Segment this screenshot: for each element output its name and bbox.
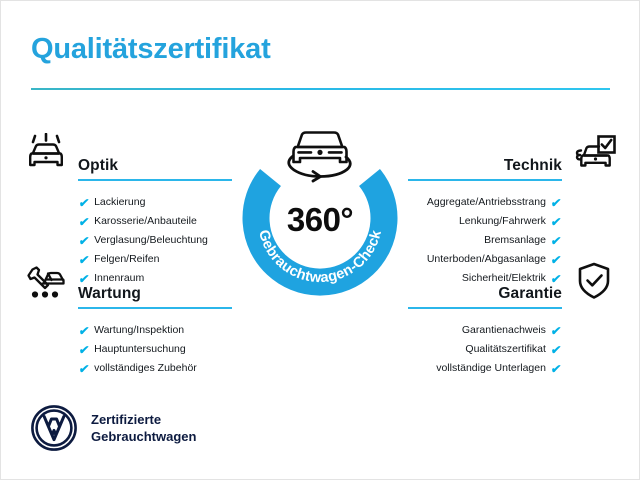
car-checkbox-icon — [570, 131, 618, 175]
section-wartung: Wartung ✔Wartung/Inspektion ✔Hauptunters… — [22, 259, 232, 378]
list-item: ✔Wartung/Inspektion — [22, 321, 232, 340]
section-divider-garantie — [408, 307, 562, 309]
list-item: ✔vollständiges Zubehör — [22, 359, 232, 378]
check-icon: ✔ — [550, 344, 562, 356]
list-item-label: Verglasung/Beleuchtung — [94, 231, 208, 250]
list-item-label: Hauptuntersuchung — [94, 340, 186, 359]
check-icon: ✔ — [78, 216, 90, 228]
section-title-garantie: Garantie — [498, 285, 562, 303]
check-icon: ✔ — [550, 197, 562, 209]
volkswagen-logo — [30, 404, 78, 452]
list-item-label: Garantienachweis — [462, 321, 546, 340]
360-check-badge: Gebrauchtwagen-Check 360° — [230, 115, 410, 305]
list-item: Bremsanlage✔ — [408, 231, 618, 250]
list-item: ✔Lackierung — [22, 193, 232, 212]
check-icon: ✔ — [550, 325, 562, 337]
check-icon: ✔ — [550, 216, 562, 228]
list-item: Garantienachweis✔ — [408, 321, 618, 340]
volkswagen-footer: Zertifizierte Gebrauchtwagen — [30, 404, 196, 452]
certificate-page: Qualitätszertifikat — [0, 0, 640, 480]
section-title-optik: Optik — [78, 157, 118, 175]
list-item-label: vollständiges Zubehör — [94, 359, 197, 378]
list-item-label: Wartung/Inspektion — [94, 321, 184, 340]
check-icon: ✔ — [550, 363, 562, 375]
section-title-wartung: Wartung — [78, 285, 141, 303]
car-rotation-icon — [289, 133, 351, 182]
car-shine-icon — [22, 131, 70, 175]
check-icon: ✔ — [550, 235, 562, 247]
list-item-label: Karosserie/Anbauteile — [94, 212, 197, 231]
check-icon: ✔ — [78, 344, 90, 356]
section-header-wartung: Wartung — [22, 259, 232, 305]
check-icon: ✔ — [78, 197, 90, 209]
list-item: vollständige Unterlagen✔ — [408, 359, 618, 378]
checklist-garantie: Garantienachweis✔ Qualitätszertifikat✔ v… — [408, 321, 618, 378]
check-icon: ✔ — [78, 235, 90, 247]
list-item-label: Bremsanlage — [484, 231, 546, 250]
car-service-dipstick-icon — [22, 259, 70, 303]
page-title: Qualitätszertifikat — [31, 33, 271, 66]
list-item-label: Lackierung — [94, 193, 145, 212]
section-header-optik: Optik — [22, 131, 232, 177]
list-item: ✔Verglasung/Beleuchtung — [22, 231, 232, 250]
check-icon: ✔ — [78, 363, 90, 375]
check-icon: ✔ — [78, 325, 90, 337]
badge-degrees-label: 360° — [230, 201, 410, 239]
section-header-technik: Technik — [408, 131, 618, 177]
title-divider — [31, 88, 610, 90]
list-item: ✔Karosserie/Anbauteile — [22, 212, 232, 231]
list-item: Aggregate/Antriebsstrang✔ — [408, 193, 618, 212]
list-item-label: Aggregate/Antriebsstrang — [427, 193, 546, 212]
checklist-wartung: ✔Wartung/Inspektion ✔Hauptuntersuchung ✔… — [22, 321, 232, 378]
list-item: ✔Hauptuntersuchung — [22, 340, 232, 359]
list-item-label: Lenkung/Fahrwerk — [459, 212, 546, 231]
list-item-label: Qualitätszertifikat — [465, 340, 546, 359]
section-header-garantie: Garantie — [408, 259, 618, 305]
list-item-label: vollständige Unterlagen — [436, 359, 546, 378]
section-divider-technik — [408, 179, 562, 181]
section-divider-optik — [78, 179, 232, 181]
shield-check-icon — [570, 259, 618, 303]
section-garantie: Garantie Garantienachweis✔ Qualitätszert… — [408, 259, 618, 378]
section-title-technik: Technik — [504, 157, 562, 175]
footer-line-1: Zertifizierte — [91, 411, 196, 428]
section-divider-wartung — [78, 307, 232, 309]
volkswagen-footer-text: Zertifizierte Gebrauchtwagen — [91, 411, 196, 445]
footer-line-2: Gebrauchtwagen — [91, 428, 196, 445]
list-item: Qualitätszertifikat✔ — [408, 340, 618, 359]
list-item: Lenkung/Fahrwerk✔ — [408, 212, 618, 231]
